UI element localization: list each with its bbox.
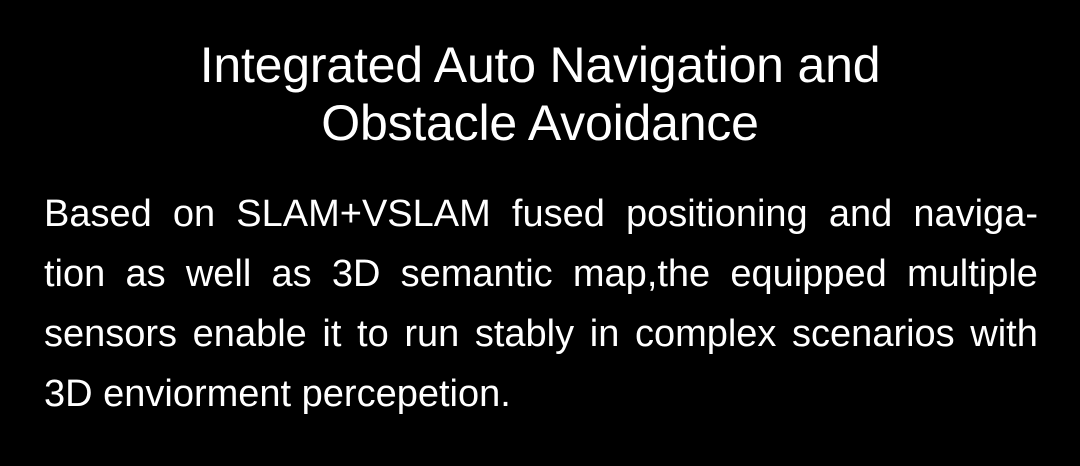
body-paragraph: Based on SLAM+VSLAM fused positioning an… (44, 184, 1038, 424)
title-line-2: Obstacle Avoidance (0, 94, 1080, 152)
body-word: to (357, 304, 389, 364)
body-word: fused (512, 184, 605, 244)
body-word: and (829, 184, 892, 244)
body-word: positioning (626, 184, 808, 244)
body-line-3: sensors enable it to run stably in compl… (44, 304, 1038, 364)
title-line-1: Integrated Auto Navigation and (0, 36, 1080, 94)
body-word: well (186, 244, 251, 304)
body-word: Based (44, 184, 152, 244)
body-word: 3D (332, 244, 381, 304)
body-word: it (322, 304, 341, 364)
body-word: complex (635, 304, 777, 364)
body-word: in (590, 304, 620, 364)
body-word: map,the (573, 244, 710, 304)
body-word: semantic (401, 244, 553, 304)
body-line-2: tion as well as 3D semantic map,the equi… (44, 244, 1038, 304)
body-word: run (404, 304, 459, 364)
body-word: on (173, 184, 215, 244)
body-word: multiple (907, 244, 1038, 304)
body-word: equipped (730, 244, 886, 304)
body-word: tion (44, 244, 105, 304)
body-line-4: 3D enviorment percepetion. (44, 364, 1038, 424)
body-word: scenarios (792, 304, 955, 364)
body-word: naviga- (913, 184, 1038, 244)
body-word: sensors (44, 304, 177, 364)
body-word: SLAM+VSLAM (236, 184, 491, 244)
page-title: Integrated Auto Navigation and Obstacle … (0, 36, 1080, 152)
body-word: stably (475, 304, 574, 364)
slide-canvas: Integrated Auto Navigation and Obstacle … (0, 0, 1080, 466)
body-word: with (970, 304, 1038, 364)
body-word: as (272, 244, 312, 304)
body-line-1: Based on SLAM+VSLAM fused positioning an… (44, 184, 1038, 244)
body-word: enable (193, 304, 307, 364)
body-word: as (125, 244, 165, 304)
